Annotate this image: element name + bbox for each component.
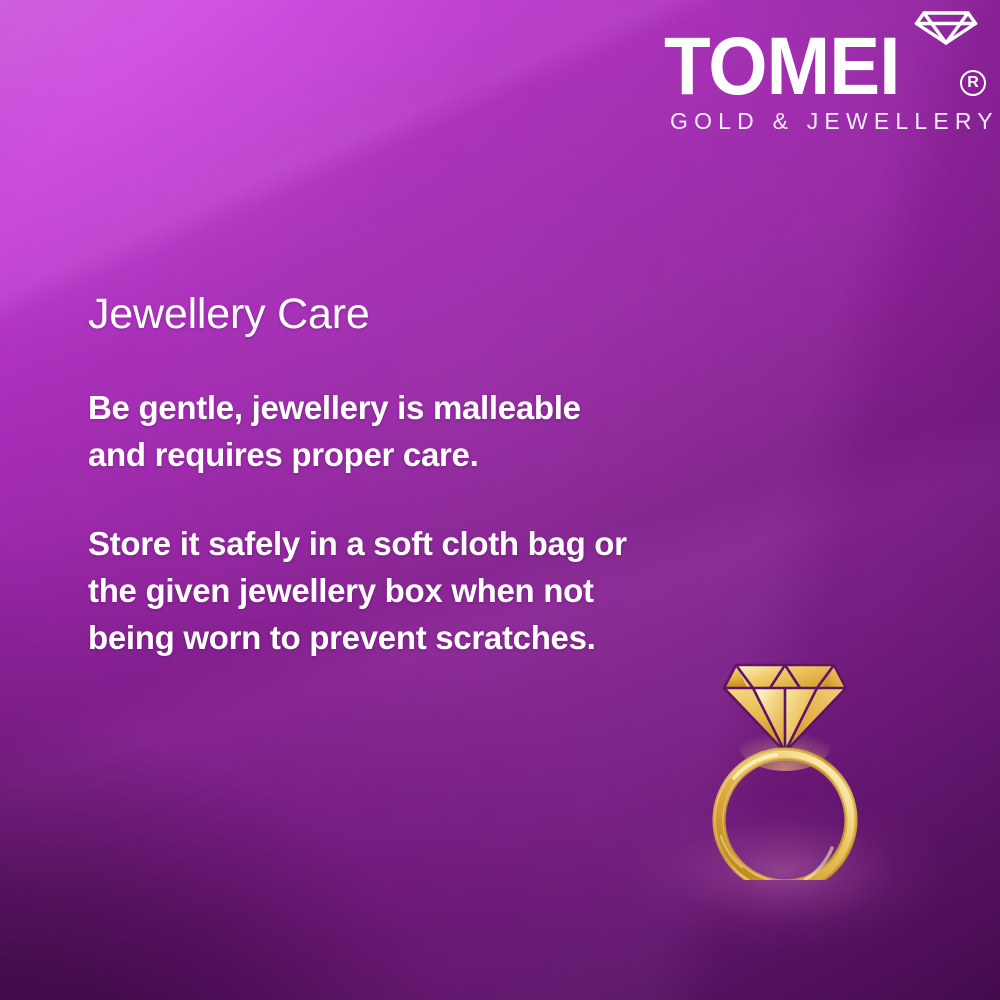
jewellery-care-graphic: TOMEI R GOLD & JEWELLERY Jewellery Care … (0, 0, 1000, 1000)
care-copy-block: Jewellery Care Be gentle, jewellery is m… (88, 288, 648, 661)
tomei-logo: TOMEI R GOLD & JEWELLERY (664, 8, 990, 138)
registered-trademark-icon: R (960, 70, 986, 96)
logo-tagline: GOLD & JEWELLERY (670, 108, 999, 134)
care-paragraph-2: Store it safely in a soft cloth bag or t… (88, 520, 633, 661)
logo-wordmark: TOMEI (664, 30, 943, 104)
page-title: Jewellery Care (88, 288, 648, 340)
care-paragraph-1: Be gentle, jewellery is malleable and re… (88, 384, 633, 478)
diamond-ring-illustration (690, 640, 880, 880)
